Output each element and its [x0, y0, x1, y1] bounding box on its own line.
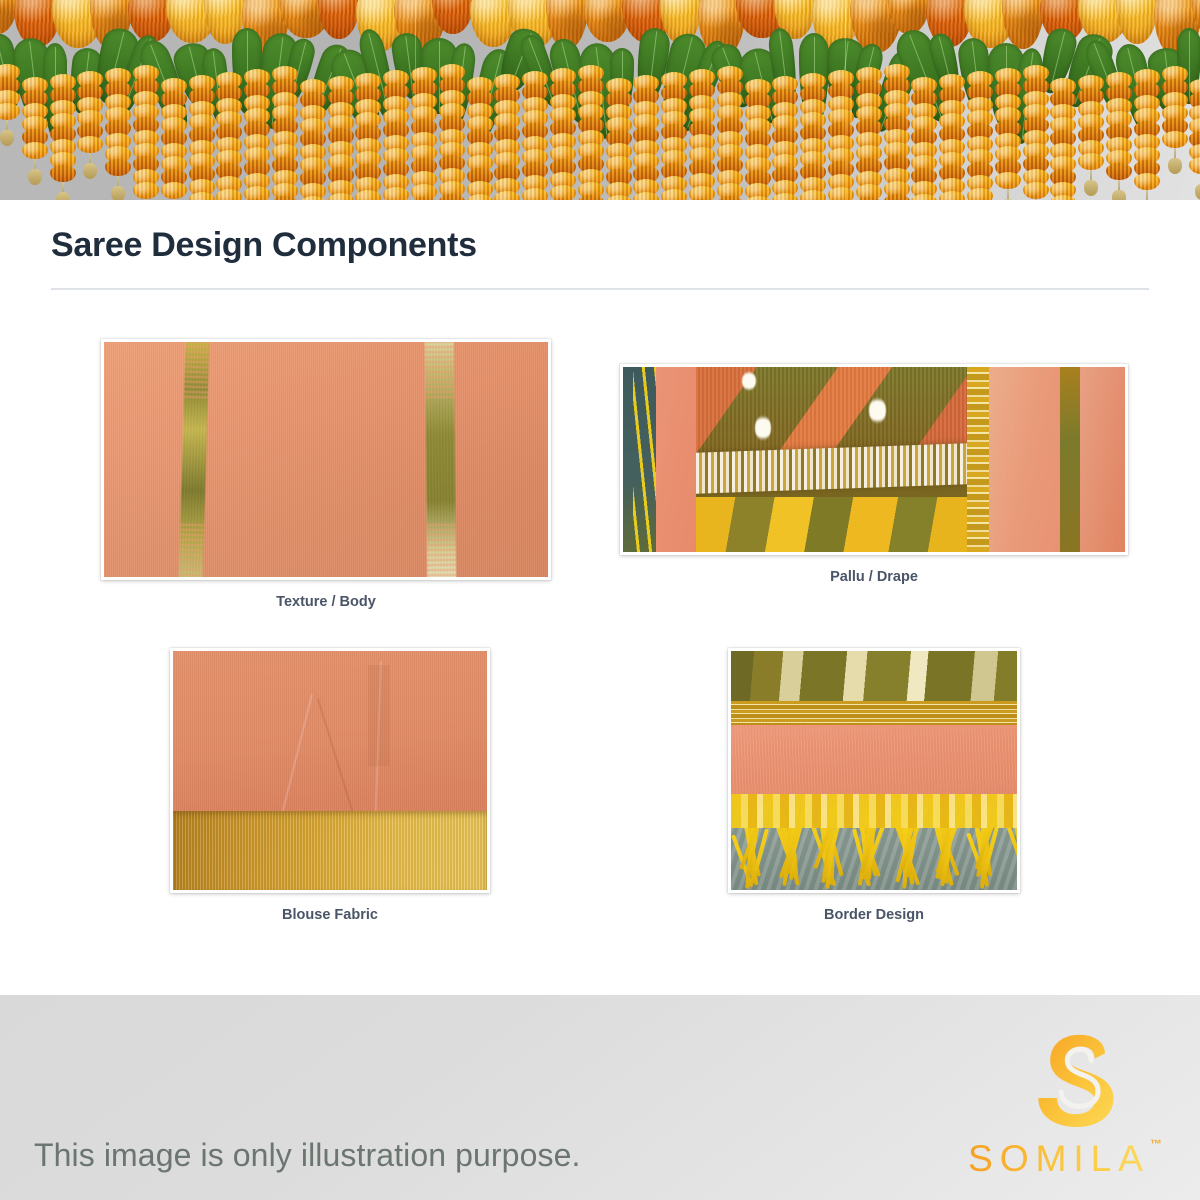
- marigold-bead: [1134, 173, 1160, 190]
- strand-tip: [83, 163, 97, 179]
- border-zari-band: [731, 701, 1017, 725]
- main-content: Saree Design Components Texture / Body: [0, 200, 1200, 995]
- pallu-peach-body: [989, 367, 1059, 552]
- strand-tip: [1112, 190, 1126, 200]
- marigold-strand: [606, 78, 632, 200]
- card-blouse-fabric[interactable]: Blouse Fabric: [170, 648, 490, 923]
- pallu-olive-stripe: [1060, 367, 1080, 552]
- card-caption: Texture / Body: [101, 594, 551, 610]
- marigold-bead: [995, 172, 1021, 189]
- marigold-strand: [661, 72, 687, 200]
- marigold-bead: [939, 191, 965, 200]
- border-ikat-band: [731, 651, 1017, 701]
- strand-tip: [111, 186, 125, 200]
- pallu-peach-fold: [656, 367, 701, 552]
- card-border-design[interactable]: Border Design: [728, 648, 1020, 923]
- marigold-strand: [189, 75, 215, 200]
- saree-border-design-photo[interactable]: [728, 648, 1020, 893]
- pallu-peach-edge: [1080, 367, 1125, 552]
- marigold-strand: [355, 73, 381, 200]
- marigold-strand: [1078, 75, 1104, 196]
- marigold-strand: [717, 66, 743, 200]
- marigold-strand: [439, 64, 465, 200]
- gold-zari-band: [173, 811, 487, 890]
- marigold-bead: [328, 193, 354, 200]
- banner-seam-left: [415, 0, 416, 200]
- marigold-strand: [995, 68, 1021, 200]
- marigold-strand: [828, 70, 854, 200]
- svg-text:SOMILA: SOMILA: [968, 1137, 1150, 1179]
- banner-seam-right: [845, 0, 846, 200]
- trademark-symbol: ™: [1150, 1137, 1162, 1151]
- marigold-strand: [550, 68, 576, 200]
- component-grid: Texture / Body: [0, 200, 1200, 995]
- tassel-knot-band: [731, 794, 1017, 827]
- header-garland-banner: [0, 0, 1200, 200]
- ikat-yellow-chevron: [696, 497, 967, 553]
- marigold-strand: [1106, 72, 1132, 200]
- marigold-strand: [383, 70, 409, 200]
- marigold-bead: [383, 187, 409, 200]
- marigold-bead: [133, 182, 159, 199]
- card-pallu-drape[interactable]: Pallu / Drape: [620, 364, 1128, 585]
- marigold-strand: [161, 78, 187, 200]
- marigold-bead: [1023, 182, 1049, 199]
- marigold-strand: [689, 69, 715, 200]
- garland-decoration: [0, 0, 1200, 200]
- marigold-bead: [189, 192, 215, 200]
- marigold-strand: [578, 65, 604, 200]
- pallu-zari-line: [967, 367, 990, 552]
- strand-tip: [1195, 184, 1200, 200]
- marigold-strand: [50, 74, 76, 200]
- marigold-bead: [161, 182, 187, 199]
- marigold-bead: [661, 189, 687, 200]
- saree-pallu-drape-photo[interactable]: [620, 364, 1128, 555]
- footer-band: This image is only illustration purpose.: [0, 995, 1200, 1200]
- marigold-bead: [355, 190, 381, 200]
- marigold-bead: [105, 159, 131, 176]
- marigold-strand: [745, 79, 771, 200]
- marigold-bead: [244, 186, 270, 200]
- marigold-strand: [633, 75, 659, 200]
- marigold-strand: [856, 67, 882, 200]
- card-caption: Pallu / Drape: [620, 569, 1128, 585]
- strand-tip: [1168, 158, 1182, 174]
- marigold-strand: [522, 71, 548, 200]
- marigold-strand: [300, 79, 326, 200]
- marigold-strand: [1134, 69, 1160, 200]
- strand-tip: [56, 192, 70, 200]
- marigold-strand: [133, 65, 159, 200]
- somila-brand-logo: SOMILA ™: [968, 1033, 1178, 1185]
- marigold-bead: [216, 189, 242, 200]
- marigold-bead: [800, 190, 826, 200]
- marigold-strand: [494, 74, 520, 200]
- marigold-strand: [1162, 66, 1188, 174]
- strand-tip: [1084, 180, 1098, 196]
- card-caption: Blouse Fabric: [170, 907, 490, 923]
- card-texture-body[interactable]: Texture / Body: [101, 339, 551, 610]
- marigold-bead: [1189, 157, 1200, 174]
- saree-texture-body-photo[interactable]: [101, 339, 551, 580]
- marigold-strand: [772, 76, 798, 200]
- marigold-strand: [939, 74, 965, 200]
- pallu-ikat-motif: [696, 367, 967, 552]
- strand-tip: [0, 130, 14, 146]
- marigold-bead: [1162, 131, 1188, 148]
- marigold-strand: [800, 73, 826, 200]
- ikat-stripe: [425, 342, 457, 577]
- marigold-strand: [105, 68, 131, 200]
- marigold-strand: [77, 71, 103, 179]
- somila-wordmark: SOMILA ™: [968, 1137, 1164, 1181]
- marigold-bead: [1106, 163, 1132, 180]
- marigold-bead: [967, 188, 993, 200]
- ikat-white-comb-band: [696, 444, 967, 494]
- fabric-shadow: [368, 665, 390, 765]
- marigold-strand: [884, 64, 910, 200]
- marigold-strand: [0, 64, 20, 146]
- ikat-resist-dot: [742, 371, 756, 391]
- card-caption: Border Design: [728, 907, 1020, 923]
- marigold-strand: [22, 77, 48, 185]
- strand-tip: [28, 169, 42, 185]
- marigold-strand: [967, 71, 993, 200]
- marigold-strand: [1050, 78, 1076, 200]
- marigold-bead: [494, 191, 520, 200]
- somila-s-monogram-icon: [1038, 1033, 1124, 1127]
- marigold-bead: [522, 188, 548, 200]
- marigold-strand: [1189, 79, 1200, 200]
- marigold-strand: [272, 66, 298, 200]
- marigold-bead: [828, 187, 854, 200]
- marigold-bead: [0, 103, 20, 120]
- marigold-strand: [467, 77, 493, 200]
- marigold-strand: [1023, 65, 1049, 200]
- saree-blouse-fabric-photo[interactable]: [170, 648, 490, 893]
- ikat-resist-dot: [869, 397, 886, 424]
- illustration-disclaimer: This image is only illustration purpose.: [34, 1137, 580, 1174]
- marigold-strand: [911, 77, 937, 200]
- ikat-stripe: [178, 342, 209, 577]
- marigold-strand: [216, 72, 242, 200]
- marigold-bead: [1078, 153, 1104, 170]
- marigold-bead: [77, 136, 103, 153]
- marigold-bead: [689, 186, 715, 200]
- marigold-strand: [328, 76, 354, 200]
- marigold-bead: [22, 142, 48, 159]
- marigold-bead: [50, 165, 76, 182]
- marigold-strand: [244, 69, 270, 200]
